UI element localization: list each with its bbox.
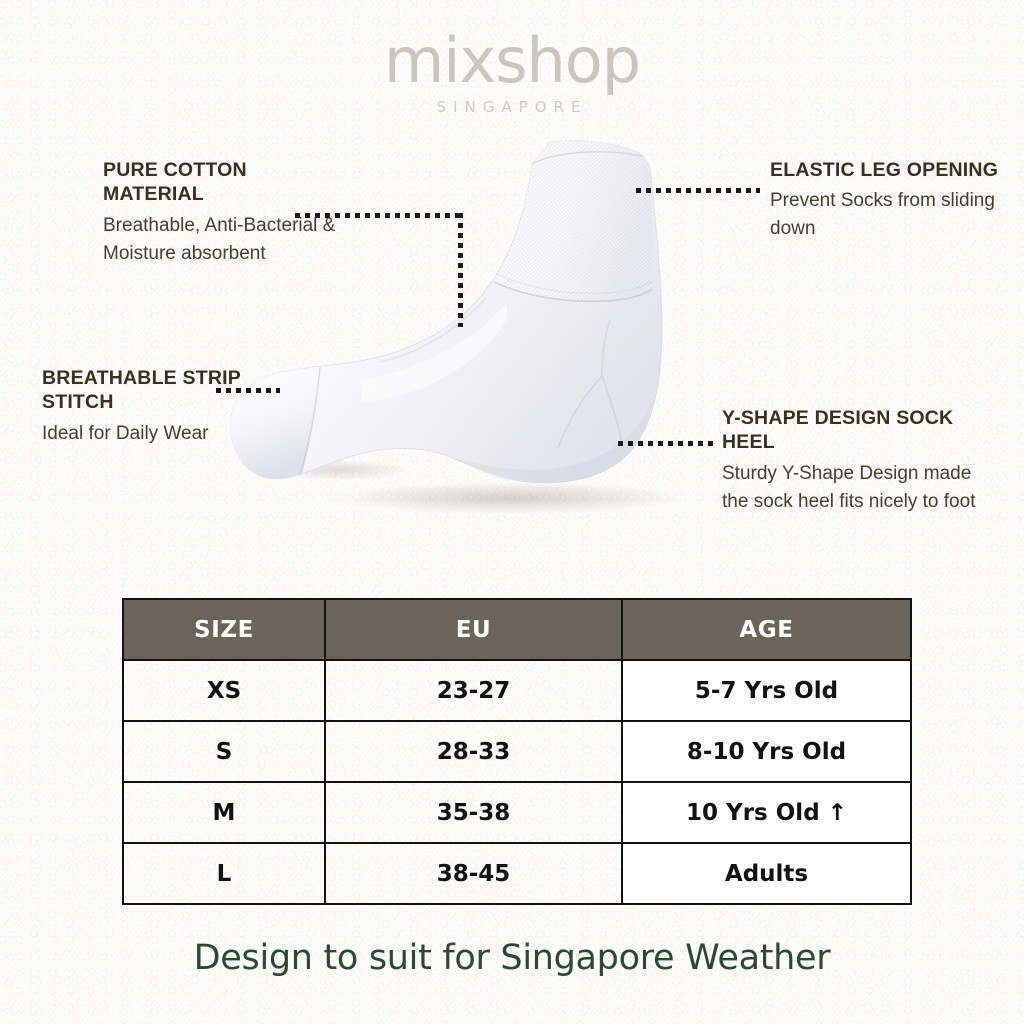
- cell-age: 5-7 Yrs Old: [622, 660, 911, 721]
- callout-y-shape-heel-body: Sturdy Y-Shape Design made the sock heel…: [722, 460, 997, 516]
- cell-eu: 28-33: [325, 721, 622, 782]
- callout-elastic-leg-body: Prevent Socks from sliding down: [770, 187, 1010, 243]
- callout-pure-cotton-body: Breathable, Anti-Bacterial & Moisture ab…: [103, 212, 353, 268]
- callout-breathable-strip-body: Ideal for Daily Wear: [42, 420, 272, 448]
- table-row: XS 23-27 5-7 Yrs Old: [123, 660, 911, 721]
- callout-y-shape-heel: Y-SHAPE DESIGN SOCK HEEL Sturdy Y-Shape …: [722, 406, 997, 516]
- cell-age: Adults: [622, 843, 911, 904]
- callout-y-shape-heel-title: Y-SHAPE DESIGN SOCK HEEL: [722, 406, 997, 455]
- brand-subtitle: SINGAPORE: [0, 98, 1024, 116]
- callout-pure-cotton: PURE COTTON MATERIAL Breathable, Anti-Ba…: [103, 158, 353, 268]
- connector-line-pure-cotton-vertical: [458, 213, 463, 327]
- brand-wordmark: mixshop: [0, 30, 1024, 92]
- size-chart-table: SIZE EU AGE XS 23-27 5-7 Yrs Old S 28-33…: [122, 598, 912, 905]
- table-row: S 28-33 8-10 Yrs Old: [123, 721, 911, 782]
- callout-elastic-leg-title: ELASTIC LEG OPENING: [770, 158, 1010, 182]
- cell-age: 8-10 Yrs Old: [622, 721, 911, 782]
- connector-line-elastic-leg: [636, 188, 760, 193]
- callout-breathable-strip: BREATHABLE STRIP STITCH Ideal for Daily …: [42, 366, 272, 448]
- table-header-age: AGE: [622, 599, 911, 660]
- cell-eu: 38-45: [325, 843, 622, 904]
- cell-size: S: [123, 721, 325, 782]
- table-header-row: SIZE EU AGE: [123, 599, 911, 660]
- cell-size: XS: [123, 660, 325, 721]
- cell-eu: 23-27: [325, 660, 622, 721]
- table-row: M 35-38 10 Yrs Old ↑: [123, 782, 911, 843]
- table-header-eu: EU: [325, 599, 622, 660]
- callout-breathable-strip-title: BREATHABLE STRIP STITCH: [42, 366, 272, 415]
- cell-size: L: [123, 843, 325, 904]
- tagline: Design to suit for Singapore Weather: [0, 938, 1024, 978]
- callout-pure-cotton-title: PURE COTTON MATERIAL: [103, 158, 353, 207]
- cell-eu: 35-38: [325, 782, 622, 843]
- cell-age: 10 Yrs Old ↑: [622, 782, 911, 843]
- brand-logo: mixshop SINGAPORE: [0, 30, 1024, 116]
- table-row: L 38-45 Adults: [123, 843, 911, 904]
- table-header-size: SIZE: [123, 599, 325, 660]
- callout-elastic-leg: ELASTIC LEG OPENING Prevent Socks from s…: [770, 158, 1010, 243]
- connector-line-y-shape-heel: [618, 441, 716, 446]
- cell-size: M: [123, 782, 325, 843]
